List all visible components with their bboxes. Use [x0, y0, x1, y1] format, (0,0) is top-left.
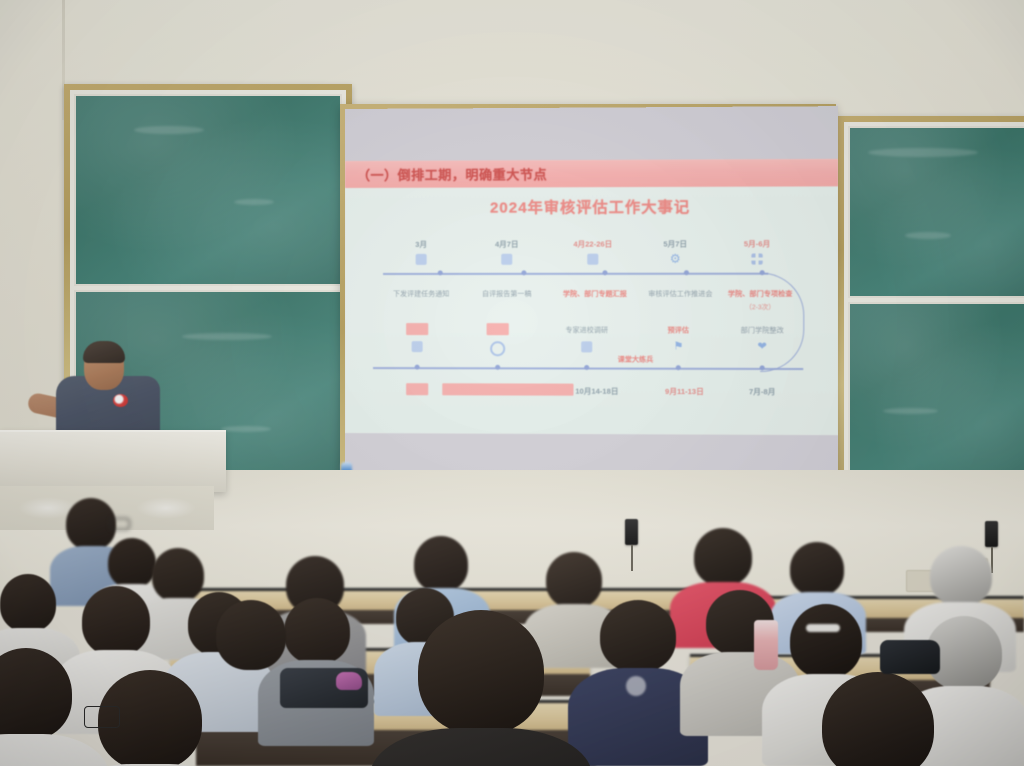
download-icon	[412, 341, 423, 352]
timeline-event-label: 学院、部门专项检查	[728, 289, 793, 299]
timeline-date: 3月	[415, 239, 427, 250]
presentation-slide: （一）倒排工期，明确重大节点 2024年审核评估工作大事记	[345, 159, 838, 435]
timeline-highlight-block	[442, 383, 573, 395]
refresh-icon	[490, 341, 505, 356]
timeline-event-sublabel: （2-3次）	[745, 301, 775, 311]
presenter-hair	[83, 341, 125, 363]
timeline-node	[760, 270, 765, 275]
podium-emblem-right	[136, 497, 196, 519]
timeline-date: 4月7日	[495, 239, 519, 250]
timeline-node	[438, 270, 443, 275]
timeline-node	[521, 270, 526, 275]
timeline-node	[684, 270, 689, 275]
wall-speaker-right	[985, 521, 998, 547]
timeline-date: 5月7日	[663, 238, 687, 249]
eyeglasses	[84, 706, 120, 728]
audience-member	[414, 536, 468, 592]
timeline-event-label: 自评报告第一稿	[482, 289, 531, 299]
right-chalkboard-inner	[844, 122, 1024, 484]
timeline-node	[760, 365, 765, 370]
timeline-date: 5月-6月	[744, 238, 770, 249]
audience-member	[930, 546, 992, 606]
podium	[0, 430, 226, 492]
handshake-icon	[581, 341, 592, 352]
projection-screen: （一）倒排工期，明确重大节点 2024年审核评估工作大事记	[345, 106, 838, 486]
timeline-node	[415, 365, 420, 370]
audience-member	[82, 586, 150, 656]
mail-icon	[416, 254, 427, 265]
timeline-middle-note: 课堂大练兵	[618, 354, 654, 364]
timeline-date: 7月-8月	[749, 386, 776, 397]
audience-member	[216, 600, 286, 670]
audience-member	[600, 600, 676, 672]
timeline-node	[495, 365, 500, 370]
pink-tumbler	[754, 620, 778, 670]
audience-member	[822, 672, 934, 766]
timeline-highlight-block	[406, 323, 428, 335]
right-chalkboard-pane-top	[848, 126, 1024, 298]
timeline-date: 4月22-26日	[573, 239, 612, 250]
timeline-event-label: 审核评估工作推进会	[648, 289, 712, 299]
timeline-event-label: 部门学院整改	[741, 325, 784, 335]
hair-clip	[806, 624, 840, 632]
heart-icon: ❤	[757, 342, 768, 353]
report-icon	[501, 254, 512, 265]
timeline-event-label: 学院、部门专题汇报	[563, 289, 627, 299]
timeline-event-label: 专家进校调研	[565, 325, 608, 335]
timeline-node	[602, 270, 607, 275]
projection-screen-frame: （一）倒排工期，明确重大节点 2024年审核评估工作大事记	[340, 104, 836, 488]
timeline-event-label: 下发评建任务通知	[393, 289, 449, 299]
right-chalkboard	[838, 116, 1024, 490]
lecture-hall-photo: （一）倒排工期，明确重大节点 2024年审核评估工作大事记	[0, 0, 1024, 766]
presenter-badge	[113, 394, 128, 407]
timeline-date: 9月11-13日	[665, 386, 704, 397]
speaker-wire-left	[631, 545, 633, 571]
left-chalkboard-pane-top	[74, 94, 342, 286]
timeline-loop-curve	[760, 273, 804, 372]
shirt-logo	[626, 676, 646, 696]
slide-timeline: 3月 4月7日 4月22-26日 5月7日 5月-6月 ⚙ 下发评建任务通知 自…	[345, 159, 838, 435]
gear-icon: ⚙	[670, 254, 681, 265]
timeline-highlight-block	[406, 383, 428, 395]
wall-speaker-left	[625, 519, 638, 545]
audience-member	[790, 604, 862, 678]
timeline-node	[584, 365, 589, 370]
eyeglasses	[110, 518, 130, 530]
audience-member	[418, 610, 544, 734]
folder-icon	[587, 254, 598, 265]
audience-member	[0, 574, 56, 632]
screen-letterbox-top	[345, 106, 838, 161]
audience-member	[694, 528, 752, 586]
audience-member	[108, 538, 156, 588]
grid-icon	[751, 253, 762, 264]
bag-accessory	[336, 672, 362, 690]
backpack-on-desk-right	[880, 640, 940, 674]
right-chalkboard-pane-bottom	[848, 302, 1024, 480]
tag-icon: ⚑	[673, 341, 684, 352]
timeline-highlight-block	[487, 323, 509, 335]
audience-member	[0, 648, 72, 740]
timeline-date: 10月14-18日	[575, 386, 618, 397]
audience-member	[790, 542, 844, 596]
audience-member	[546, 552, 602, 608]
timeline-event-label: 预评估	[668, 325, 689, 335]
timeline-node	[676, 365, 681, 370]
audience-member	[284, 598, 350, 664]
